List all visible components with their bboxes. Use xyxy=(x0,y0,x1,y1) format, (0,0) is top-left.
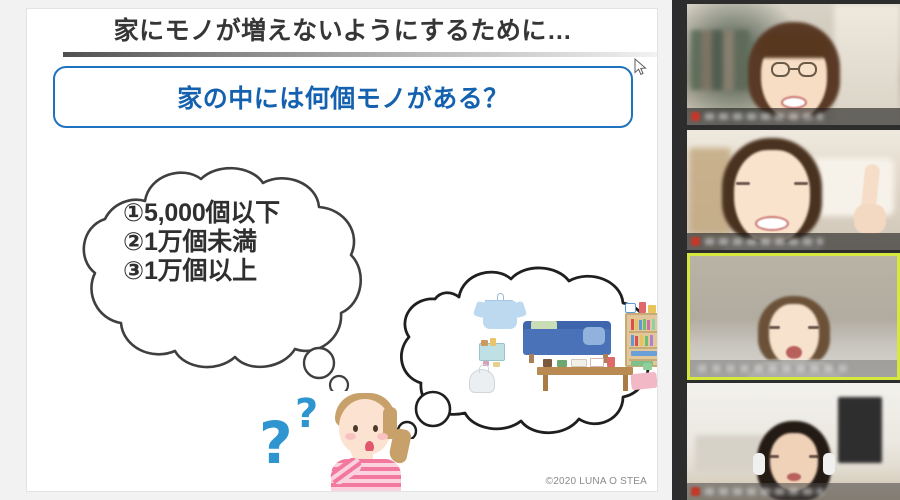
eye xyxy=(809,455,819,458)
book xyxy=(635,319,638,330)
question-callout-box: 家の中には何個モノがある？ xyxy=(53,66,633,128)
participant-name-bar xyxy=(687,483,900,500)
sofa-leg xyxy=(529,354,534,363)
video-tile-active-speaker[interactable] xyxy=(687,253,900,380)
shelf-top-item xyxy=(639,302,646,313)
participant-name-bar xyxy=(687,108,900,125)
eye xyxy=(353,425,358,432)
sofa-cushion xyxy=(583,327,605,345)
eye xyxy=(373,425,378,432)
book xyxy=(647,320,650,330)
book xyxy=(645,336,648,346)
mic-muted-icon xyxy=(691,237,700,246)
floor-clutter xyxy=(643,363,652,370)
mic-muted-icon xyxy=(691,487,700,496)
participant-video-panel xyxy=(672,0,900,500)
book xyxy=(631,335,634,346)
answer-options-list: ①5,000個以下 ②1万個未満 ③1万個以上 xyxy=(123,199,280,286)
question-text: 家の中には何個モノがある？ xyxy=(177,79,509,115)
title-divider xyxy=(63,52,658,57)
toy-item xyxy=(481,340,488,346)
floor-clutter xyxy=(630,372,658,391)
bookshelf-icon xyxy=(625,313,658,367)
book xyxy=(640,335,643,346)
glasses-icon xyxy=(771,62,817,78)
list-item: ①5,000個以下 xyxy=(123,199,280,228)
bangs xyxy=(758,32,830,58)
headset-earcup xyxy=(753,453,765,475)
table-paper xyxy=(590,358,604,367)
book xyxy=(650,335,653,346)
messy-room-illustration xyxy=(457,291,657,401)
video-tile[interactable] xyxy=(687,130,900,250)
mouth xyxy=(787,473,801,481)
mouth xyxy=(786,346,802,359)
shelf-top-item xyxy=(648,305,656,313)
screen-share-window: 家にモノが増えないようにするために… 家の中には何個モノがある？ ①5,000個… xyxy=(0,0,900,500)
stacked-books xyxy=(631,351,657,356)
toy-item xyxy=(490,338,496,346)
list-item: ②1万個未満 xyxy=(123,228,280,257)
eye xyxy=(794,182,808,185)
shelf-row xyxy=(629,347,658,349)
page-title: 家にモノが増えないようにするために… xyxy=(27,11,658,47)
table-leg xyxy=(623,375,628,391)
video-tile[interactable] xyxy=(687,4,900,125)
arrow-pointer-icon xyxy=(634,58,648,76)
floor-item xyxy=(493,362,500,367)
thinking-woman-illustration xyxy=(309,385,419,492)
presentation-slide: 家にモノが増えないようにするために… 家の中には何個モノがある？ ①5,000個… xyxy=(26,8,658,492)
trash-bag-icon xyxy=(469,369,495,393)
blush xyxy=(345,433,356,440)
eye xyxy=(769,455,779,458)
mic-muted-icon xyxy=(691,112,700,121)
mouth xyxy=(755,216,789,231)
table-item xyxy=(557,360,567,367)
shelf-top-frame xyxy=(625,303,636,313)
list-item: ③1万個以上 xyxy=(123,257,280,286)
table-item xyxy=(543,359,552,367)
shared-screen-region: 家にモノが増えないようにするために… 家の中には何個モノがある？ ①5,000個… xyxy=(0,0,672,500)
table-leg xyxy=(543,375,548,391)
hand xyxy=(854,204,886,234)
coffee-table-icon xyxy=(537,367,633,375)
question-mark-icon: ? xyxy=(259,409,293,477)
eye xyxy=(736,182,750,185)
participant-name-label xyxy=(698,365,848,372)
book xyxy=(652,319,655,330)
shirt-icon xyxy=(483,301,517,329)
participant-name-bar xyxy=(687,233,900,250)
shelf-row xyxy=(629,331,658,333)
book xyxy=(631,319,634,330)
book xyxy=(643,319,646,330)
blush xyxy=(377,433,388,440)
copyright-notice: ©2020 LUNA O STEA xyxy=(546,476,647,487)
participant-name-label xyxy=(705,113,823,120)
participant-name-label xyxy=(705,238,823,245)
book xyxy=(635,336,638,346)
eye xyxy=(769,326,780,329)
participant-name-label xyxy=(705,488,823,495)
participant-name-bar xyxy=(690,360,897,377)
video-tile[interactable] xyxy=(687,383,900,500)
table-paper xyxy=(571,359,587,367)
table-cup xyxy=(607,357,615,367)
eye xyxy=(808,326,819,329)
book xyxy=(639,320,642,330)
headset-earcup xyxy=(823,453,835,475)
